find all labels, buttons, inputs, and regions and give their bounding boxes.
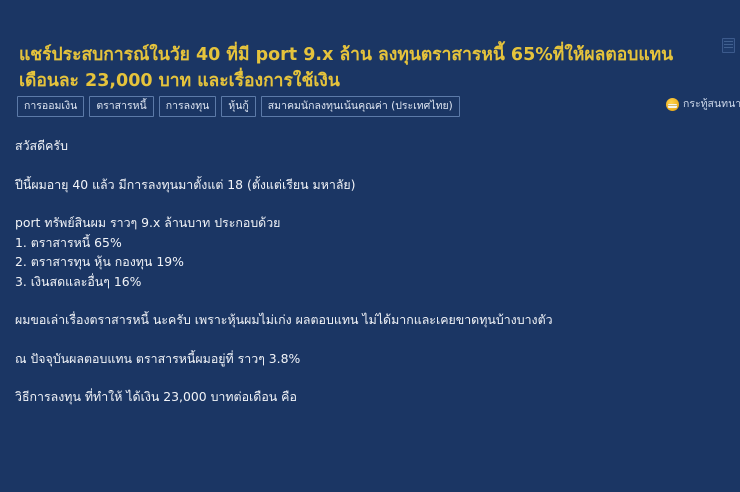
- body-intro: ปีนี้ผมอายุ 40 แล้ว มีการลงทุนมาตั้งแต่ …: [15, 175, 735, 195]
- body-yield: ณ ปัจจุบันผลตอบแทน ตราสารหนี้ผมอยู่ที่ ร…: [15, 349, 735, 369]
- page-title: แชร์ประสบการณ์ในวัย 40 ที่มี port 9.x ล้…: [19, 42, 679, 94]
- forum-type-label: กระทู้สนทนา: [683, 98, 740, 111]
- tag-list: การออมเงิน ตราสารหนี้ การลงทุน หุ้นกู้ ส…: [17, 96, 460, 117]
- forum-post-page: แชร์ประสบการณ์ในวัย 40 ที่มี port 9.x ล้…: [0, 0, 740, 492]
- body-portfolio-heading: port ทรัพย์สินผม ราวๆ 9.x ล้านบาท ประกอบ…: [15, 213, 735, 233]
- tag-item-debentures[interactable]: หุ้นกู้: [221, 96, 255, 117]
- list-item: 3. เงินสดและอื่นๆ 16%: [15, 272, 735, 292]
- body-method: วิธีการลงทุน ที่ทำให้ ได้เงิน 23,000 บาท…: [15, 387, 735, 407]
- post-title-line-2: 23,000 บาท และเรื่องการใช้เงิน: [85, 71, 340, 91]
- body-note: ผมขอเล่าเรื่องตราสารหนี้ นะครับ เพราะหุ้…: [15, 310, 735, 330]
- portfolio-breakdown-list: 1. ตราสารหนี้ 65% 2. ตราสารทุน หุ้น กองท…: [15, 233, 735, 292]
- tag-item-investment[interactable]: การลงทุน: [159, 96, 217, 117]
- discussion-emoji-icon: [666, 98, 679, 111]
- list-item: 1. ตราสารหนี้ 65%: [15, 233, 735, 253]
- body-greeting: สวัสดีครับ: [15, 136, 735, 156]
- post-body: สวัสดีครับ ปีนี้ผมอายุ 40 แล้ว มีการลงทุ…: [15, 136, 735, 426]
- tag-item-bonds[interactable]: ตราสารหนี้: [89, 96, 153, 117]
- tag-item-saving[interactable]: การออมเงิน: [17, 96, 84, 117]
- bookmark-icon[interactable]: [722, 38, 735, 53]
- list-item: 2. ตราสารทุน หุ้น กองทุน 19%: [15, 252, 735, 272]
- forum-type-badge[interactable]: กระทู้สนทนา: [666, 98, 740, 111]
- tag-item-thaivi-association[interactable]: สมาคมนักลงทุนเน้นคุณค่า (ประเทศไทย): [261, 96, 460, 117]
